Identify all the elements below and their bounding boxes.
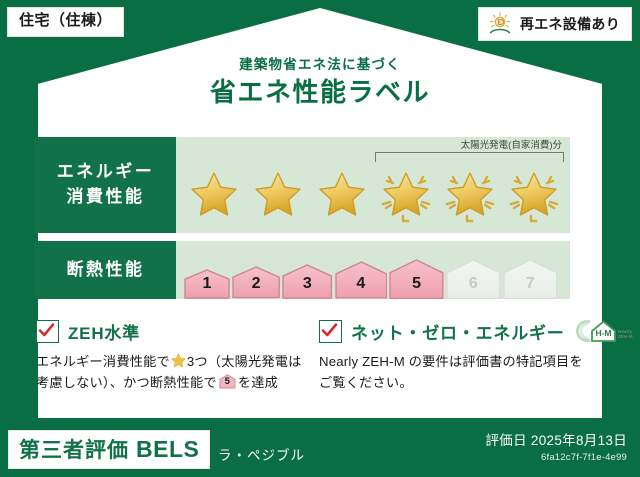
insulation-level-inactive: 7 [503,259,558,299]
note-zeh-standard: ZEH水準 エネルギー消費性能で3つ（太陽光発電は考慮しない）、かつ断熱性能で5… [36,318,319,394]
star-solar [374,161,438,229]
row-insulation-body: 1234567 [176,241,570,299]
building-type-label: 住宅（住棟） [19,12,112,29]
row-insulation-label: 断熱性能 [35,241,176,299]
insulation-level-active: 5 [389,259,444,299]
note-net-zero-energy: ネット・ゼロ・エネルギー H-M Nearly ZEH-M Nearly ZEH… [319,318,602,394]
renewable-energy-badge: 再エネ設備あり [478,7,632,41]
row-insulation-performance: 断熱性能 1234567 [35,241,570,299]
label-subtitle: 建築物省エネ法に基づく [0,56,640,74]
note-zeh-text: エネルギー消費性能で3つ（太陽光発電は考慮しない）、かつ断熱性能で5を達成 [36,351,307,394]
label-footer: 第三者評価 BELS ラ・ペジブル 評価日 2025年8月13日 6fa12c7… [0,418,640,477]
energy-performance-label: 住宅（住棟） 再エネ設備あり 建築物省エネ法に基づく [0,0,640,477]
renewable-energy-label: 再エネ設備あり [520,14,620,34]
star-filled [182,161,246,229]
bels-badge: 第三者評価 BELS [8,430,210,469]
label-title: 省エネ性能ラベル [0,75,640,110]
star-rating [176,159,570,231]
note-zeh-title: ZEH水準 [68,319,140,344]
property-name: ラ・ペジブル [218,444,305,464]
insulation-level-number: 2 [232,275,280,293]
footer-meta: 評価日 2025年8月13日 6fa12c7f-7f1e-4e99 [485,429,627,463]
insulation-level-number: 1 [184,275,230,293]
checkbox-net-zero-energy[interactable] [319,320,342,343]
solar-bracket-label: 太陽光発電(自家消費)分 [461,137,562,151]
label-title-block: 建築物省エネ法に基づく 省エネ性能ラベル [0,56,640,110]
inline-house-value: 5 [219,374,236,389]
insulation-scale: 1234567 [176,241,570,299]
star-solar [438,161,502,229]
note-zeh-text-c: を達成 [238,375,278,390]
insulation-level-number: 4 [335,275,388,293]
svg-text:H-M: H-M [595,328,611,338]
insulation-level-number: 7 [503,275,558,293]
rating-rows: エネルギー 消費性能 太陽光発電(自家消費)分 断熱性能 1234567 [35,137,570,307]
row-energy-label-line2: 消費性能 [67,185,145,210]
note-nze-text: Nearly ZEH-M の要件は評価書の特記項目をご覧ください。 [319,351,590,394]
star-icon [316,169,368,221]
row-energy-body: 太陽光発電(自家消費)分 [176,137,570,233]
note-nze-header: ネット・ゼロ・エネルギー H-M Nearly ZEH-M [319,318,590,344]
star-solar [502,161,566,229]
insulation-level-number: 6 [446,275,501,293]
checkbox-zeh-standard[interactable] [36,320,59,343]
note-zeh-text-a: エネルギー消費性能で [36,354,170,369]
row-energy-performance: エネルギー 消費性能 太陽光発電(自家消費)分 [35,137,570,233]
insulation-level-active: 2 [232,266,280,299]
star-filled [246,161,310,229]
insulation-level-number: 3 [282,275,332,293]
insulation-level-inactive: 6 [446,259,501,299]
row-energy-label: エネルギー 消費性能 [35,137,176,233]
insulation-level-active: 4 [335,261,388,299]
star-icon [252,169,304,221]
insulation-level-number: 5 [389,275,444,293]
star-icon [188,169,240,221]
row-energy-label-line1: エネルギー [57,160,155,185]
bels-jp-label: 第三者評価 [19,434,129,464]
bels-en-label: BELS [136,436,199,463]
row-insulation-label-line1: 断熱性能 [67,258,145,283]
note-nze-title: ネット・ゼロ・エネルギー [351,319,565,344]
zeh-m-logo-icon: H-M Nearly ZEH-M [576,318,634,344]
inline-star-icon [171,353,186,368]
criteria-notes: ZEH水準 エネルギー消費性能で3つ（太陽光発電は考慮しない）、かつ断熱性能で5… [36,318,602,394]
evaluation-id: 6fa12c7f-7f1e-4e99 [485,452,627,463]
insulation-level-active: 1 [184,269,230,299]
star-filled [310,161,374,229]
inline-house-icon: 5 [219,374,236,389]
building-type-badge: 住宅（住棟） [7,7,124,37]
solar-sun-icon [487,12,513,36]
note-zeh-header: ZEH水準 [36,318,307,344]
evaluation-date: 評価日 2025年8月13日 [485,429,627,449]
svg-text:ZEH-M: ZEH-M [618,334,633,339]
insulation-level-active: 3 [282,264,332,299]
